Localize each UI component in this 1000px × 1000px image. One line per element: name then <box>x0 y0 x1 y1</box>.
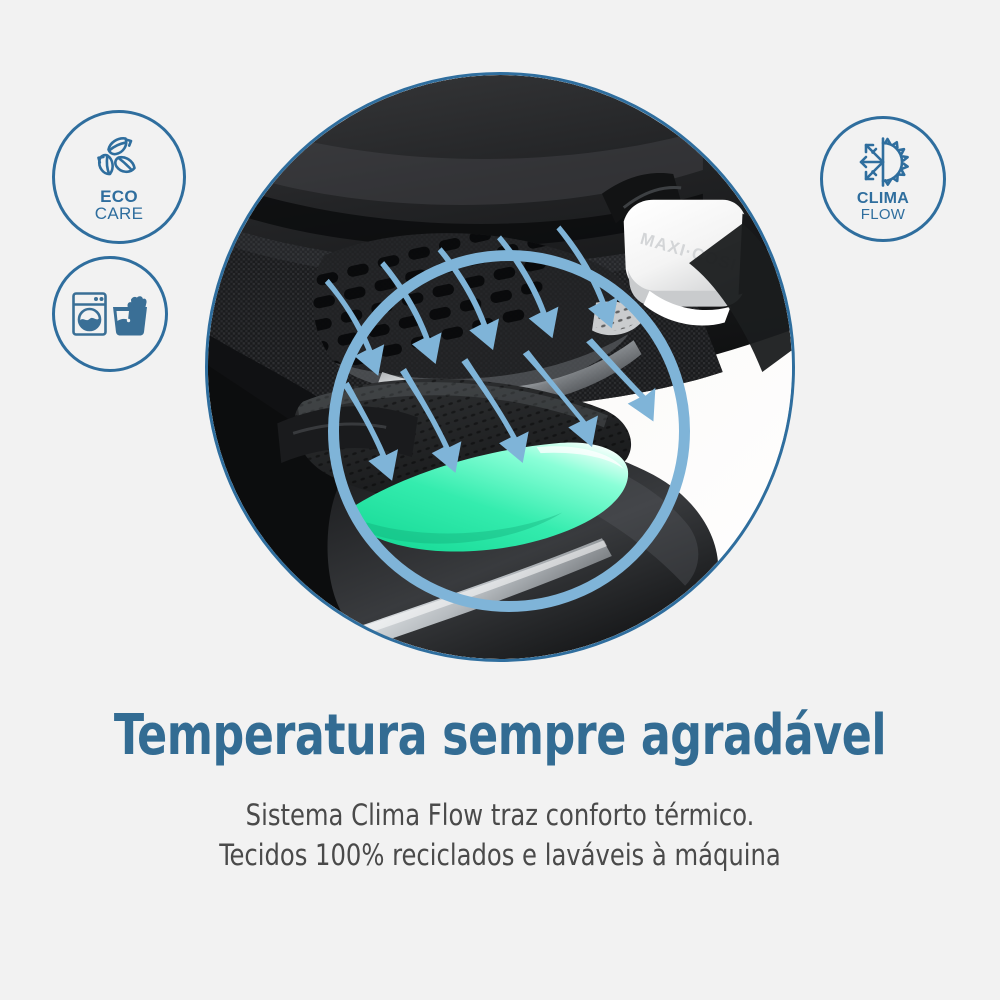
page-title: Temperatura sempre agradável <box>60 703 940 768</box>
washing-machine-handwash-icon <box>71 289 149 339</box>
badge-clima-flow: CLIMA FLOW <box>820 116 946 242</box>
snowflake-sun-icon <box>852 136 914 188</box>
badge-eco-care-label: ECO CARE <box>95 188 143 222</box>
badge-eco-care: ECO CARE <box>52 110 186 244</box>
subtitle-line-1: Sistema Clima Flow traz conforto térmico… <box>35 795 965 835</box>
badge-clima-flow-label: CLIMA FLOW <box>857 191 909 222</box>
page-subtitle: Sistema Clima Flow traz conforto térmico… <box>35 795 965 875</box>
three-leaves-recycle-icon <box>87 133 151 185</box>
hero-image-wrap: MAXI·COSI <box>205 72 795 662</box>
page-stage: ECO CARE <box>0 0 1000 1000</box>
hero-photo: MAXI·COSI <box>208 75 792 659</box>
badge-machine-washable <box>52 256 168 372</box>
car-seat-airflow-illustration: MAXI·COSI <box>208 75 792 659</box>
hero-photo-circle: MAXI·COSI <box>205 72 795 662</box>
subtitle-line-2: Tecidos 100% reciclados e laváveis à máq… <box>35 835 965 875</box>
